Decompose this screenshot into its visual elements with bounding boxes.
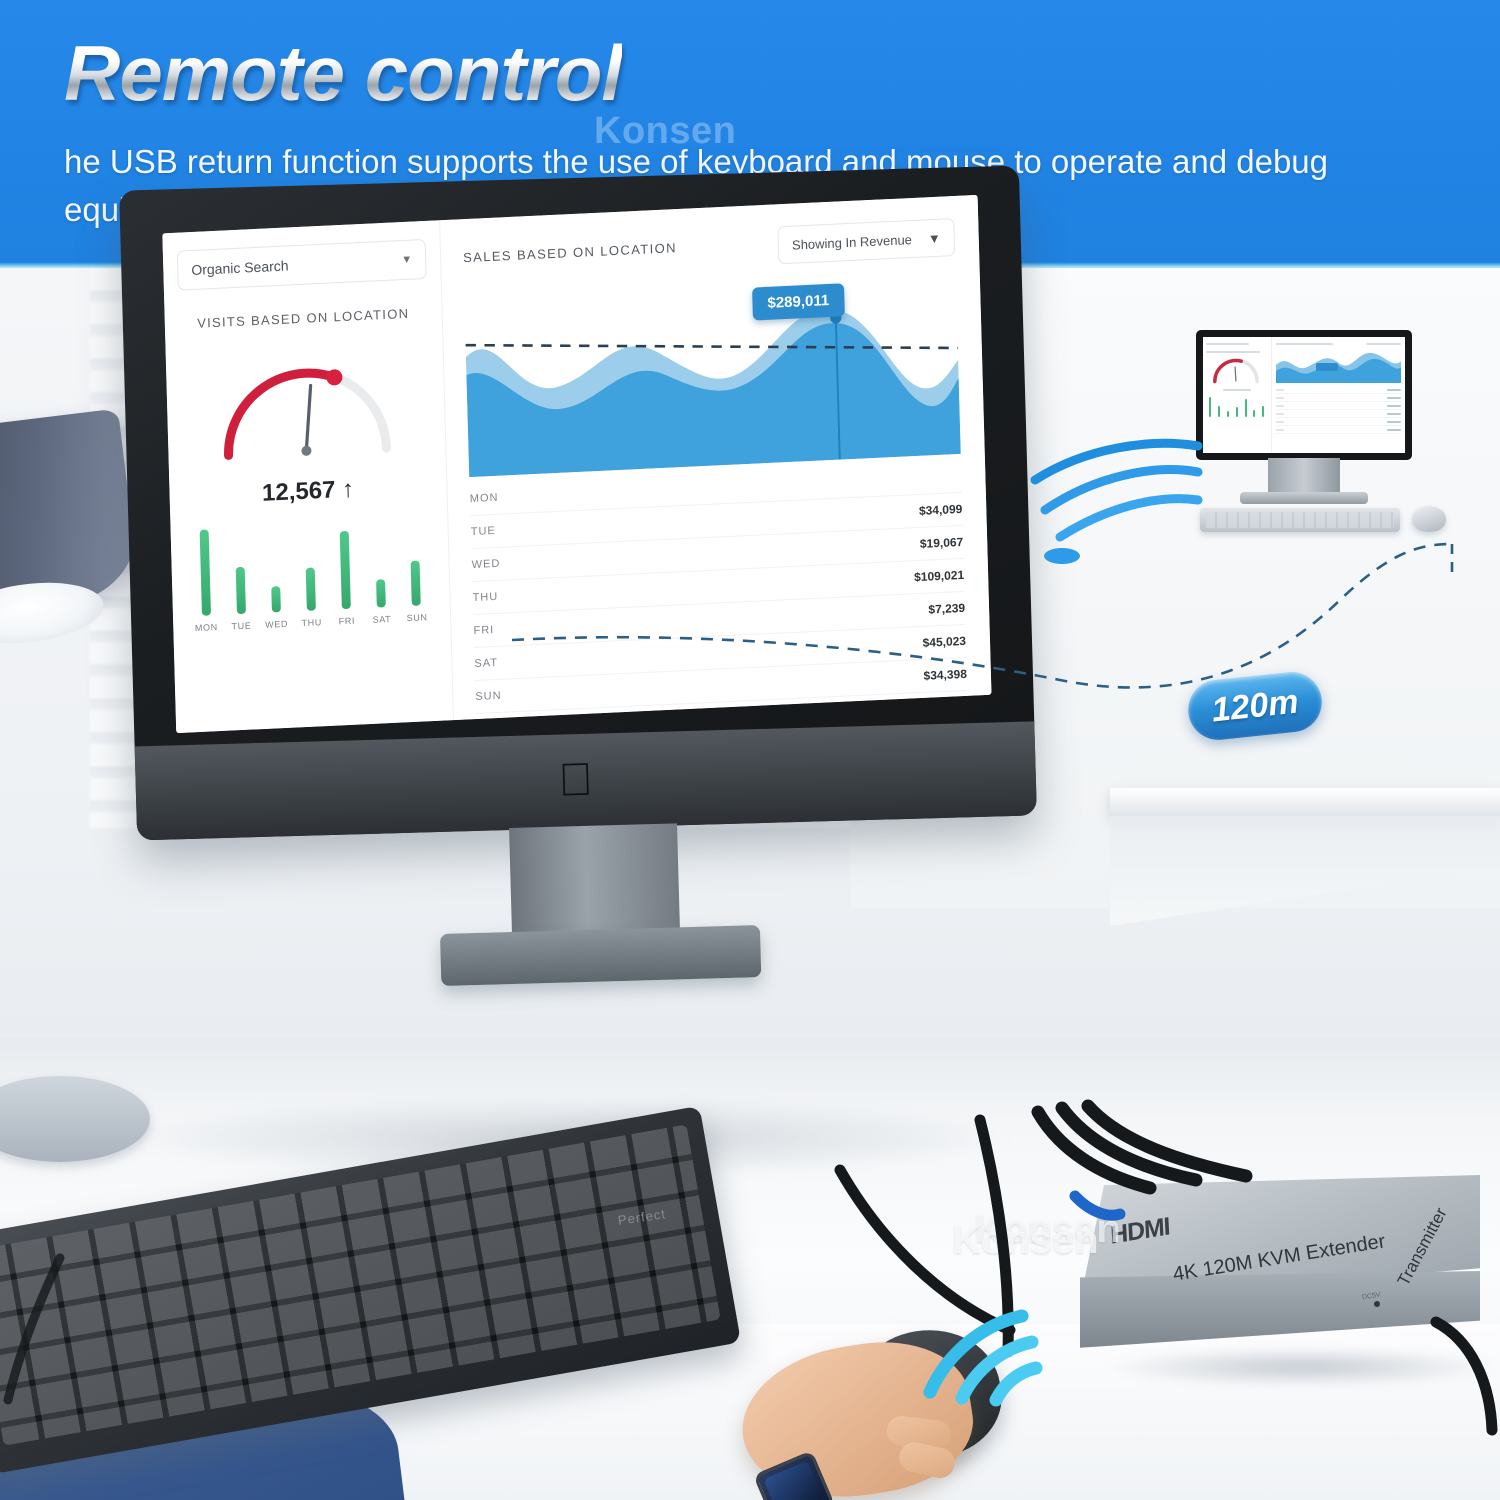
kvm-extender-device: HDMI 4K 120M KVM Extender Transmitter DC… [1062,1175,1492,1390]
device-shadow [1102,1347,1500,1387]
chevron-down-icon: ▼ [401,254,412,267]
bar-label: MON [195,622,218,633]
bar-label: THU [301,617,322,628]
row-day: WED [472,558,501,571]
analytics-dashboard: Organic Search ▼ VISITS BASED ON LOCATIO… [162,195,991,733]
bar-label: TUE [231,621,251,632]
remote-monitor-stand [1268,458,1340,494]
row-day: SAT [474,657,498,670]
device-front-face [1080,1271,1480,1351]
apple-logo-icon:  [553,756,598,807]
remote-keyboard [1200,508,1400,532]
remote-monitor-base [1240,492,1368,504]
sales-area-chart: $289,011 [464,282,960,477]
imac-screen: Organic Search ▼ VISITS BASED ON LOCATIO… [162,195,991,733]
bar-label: FRI [339,616,356,627]
revenue-mode-select[interactable]: Showing In Revenue ▼ [777,218,955,264]
sales-tooltip: $289,011 [752,283,845,320]
sales-rows-table: MON TUE $34,099 WED $19,067 THU [469,460,968,733]
bar-item: MON [191,529,220,633]
remote-monitor-screen [1203,337,1405,453]
visits-bar-chart: MON TUE WED THU FRI SAT SUN [191,522,431,633]
wall-shelf-edge [1110,816,1500,926]
row-day: FRI [473,624,494,637]
remote-gauge-icon [1206,355,1268,385]
organic-search-select[interactable]: Organic Search ▼ [177,239,427,291]
visits-gauge [199,327,412,469]
row-day: TUE [471,525,496,538]
remote-area-chart [1276,347,1401,383]
imac-stand-foot [440,925,761,986]
remote-mouse [1412,506,1446,532]
row-day: MON [470,492,499,505]
bar-label: SUN [407,612,428,623]
visits-value: 12,567 ↑ [183,472,433,512]
organic-search-value: Organic Search [191,257,289,278]
brand-watermark-desk: Konsen [952,1218,1099,1263]
bar-label: WED [265,619,288,630]
product-marketing-image: Remote control Konsen he USB return func… [0,0,1500,1500]
sales-panel-header: SALES BASED ON LOCATION Showing In Reven… [463,218,956,279]
visits-number: 12,567 [262,476,336,506]
distance-badge-label: 120m [1210,682,1301,730]
revenue-mode-value: Showing In Revenue [792,232,912,253]
row-value: $34,099 [919,502,963,518]
bar-item: SUN [402,560,430,623]
dashboard-right-panel: SALES BASED ON LOCATION Showing In Reven… [440,195,991,720]
remote-dashboard-mirror [1203,337,1405,453]
row-value: $45,023 [922,634,966,650]
chevron-down-icon: ▼ [928,230,941,246]
wall-shelf [1110,788,1500,818]
remote-dashboard-right [1272,337,1405,453]
row-value: $7,239 [928,601,965,617]
row-value: $34,398 [923,667,967,683]
imac-computer: Organic Search ▼ VISITS BASED ON LOCATIO… [119,166,1037,841]
bar-item: WED [263,586,290,630]
remote-monitor [1196,330,1412,460]
row-day: SUN [475,690,502,703]
bar-item: TUE [227,566,255,631]
remote-dashboard-left [1203,337,1272,453]
device-power-led [1374,1301,1380,1307]
bar-item: SAT [368,579,395,625]
sales-panel-title: SALES BASED ON LOCATION [463,231,677,265]
remote-bar-chart [1206,395,1268,417]
trend-up-icon: ↑ [342,476,355,504]
area-chart-svg [464,282,960,477]
bar-item: FRI [331,530,360,626]
bar-label: SAT [372,614,391,625]
page-title: Remote control [64,34,622,112]
row-value: $19,067 [920,535,964,551]
bar-item: THU [297,567,325,628]
row-day: THU [472,591,498,604]
row-value: $109,021 [914,568,964,584]
remote-rows [1276,386,1401,434]
remote-tooltip [1316,363,1338,371]
dashboard-left-panel: Organic Search ▼ VISITS BASED ON LOCATIO… [162,220,454,733]
